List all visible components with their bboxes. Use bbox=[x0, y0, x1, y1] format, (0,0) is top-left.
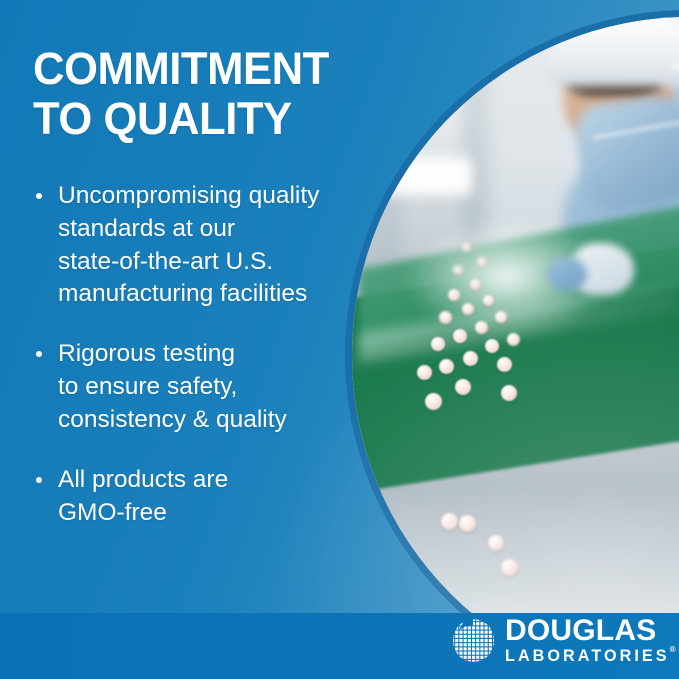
photo-tablet bbox=[455, 379, 471, 395]
headline-line-2: TO QUALITY bbox=[33, 94, 353, 144]
douglas-grid-globe-icon bbox=[451, 618, 496, 663]
commitment-to-quality-poster: COMMITMENT TO QUALITY Uncompromising qua… bbox=[0, 0, 679, 679]
brand-name: DOUGLAS bbox=[505, 617, 670, 646]
bullet-line: Uncompromising quality bbox=[58, 180, 353, 213]
photo-tablet bbox=[507, 333, 520, 346]
photo-tablet bbox=[439, 311, 452, 324]
bullet-line: to ensure safety, bbox=[58, 371, 353, 404]
brand-logo-text: DOUGLAS LABORATORIES® bbox=[505, 617, 670, 665]
bullet-dot-icon bbox=[36, 477, 42, 483]
photo-tablet bbox=[501, 385, 517, 401]
bullet-line: standards at our bbox=[58, 213, 353, 246]
photo-tablet bbox=[463, 351, 478, 366]
photo-tablet bbox=[462, 303, 474, 315]
photo-tablet bbox=[477, 257, 487, 267]
photo-circle-clip bbox=[352, 17, 679, 679]
photo-worker-glove bbox=[547, 257, 587, 291]
photo-tablet bbox=[448, 289, 460, 301]
brand-subtitle: LABORATORIES bbox=[505, 647, 670, 665]
registered-trademark-icon: ® bbox=[670, 646, 676, 654]
brand-logo: DOUGLAS LABORATORIES® bbox=[451, 617, 670, 665]
bullet-line: manufacturing facilities bbox=[58, 278, 353, 311]
list-item: Rigorous testing to ensure safety, consi… bbox=[33, 338, 353, 436]
photo-tablet bbox=[439, 359, 454, 374]
photo-tablet bbox=[425, 393, 442, 410]
photo-ceiling-light bbox=[352, 157, 472, 195]
photo-tablet bbox=[417, 365, 432, 380]
bullet-line: state-of-the-art U.S. bbox=[58, 246, 353, 279]
photo-tablet bbox=[431, 337, 445, 351]
photo-tablet bbox=[462, 243, 471, 252]
photo-tablet bbox=[459, 515, 476, 532]
photo-tablet bbox=[453, 265, 463, 275]
bullet-dot-icon bbox=[36, 193, 42, 199]
photo-circle-ring bbox=[345, 10, 679, 679]
bullet-line: Rigorous testing bbox=[58, 338, 353, 371]
page-title: COMMITMENT TO QUALITY bbox=[33, 44, 353, 144]
bullet-line: consistency & quality bbox=[58, 404, 353, 437]
bullet-line: GMO-free bbox=[58, 497, 353, 530]
photo-tablet bbox=[475, 321, 488, 334]
photo-tablet bbox=[441, 513, 458, 530]
headline-line-1: COMMITMENT bbox=[33, 44, 353, 94]
photo-tablet bbox=[497, 357, 512, 372]
photo-tablet bbox=[485, 339, 499, 353]
photo-tablet bbox=[495, 311, 507, 323]
photo-tablet bbox=[501, 559, 518, 576]
list-item: All products are GMO-free bbox=[33, 464, 353, 530]
bullet-dot-icon bbox=[36, 351, 42, 357]
bullet-line: All products are bbox=[58, 464, 353, 497]
quality-bullet-list: Uncompromising quality standards at our … bbox=[33, 180, 353, 556]
photo-worker-hairnet bbox=[547, 17, 679, 87]
photo-tablet bbox=[488, 535, 504, 551]
photo-mask-strap bbox=[671, 65, 679, 149]
photo-tablet bbox=[470, 279, 481, 290]
brand-subtitle-wrap: LABORATORIES® bbox=[505, 648, 670, 665]
photo-worker-face-mask bbox=[572, 91, 679, 215]
photo-tablet bbox=[483, 295, 494, 306]
photo-tablet bbox=[453, 329, 467, 343]
manufacturing-photo bbox=[352, 17, 679, 679]
list-item: Uncompromising quality standards at our … bbox=[33, 180, 353, 311]
